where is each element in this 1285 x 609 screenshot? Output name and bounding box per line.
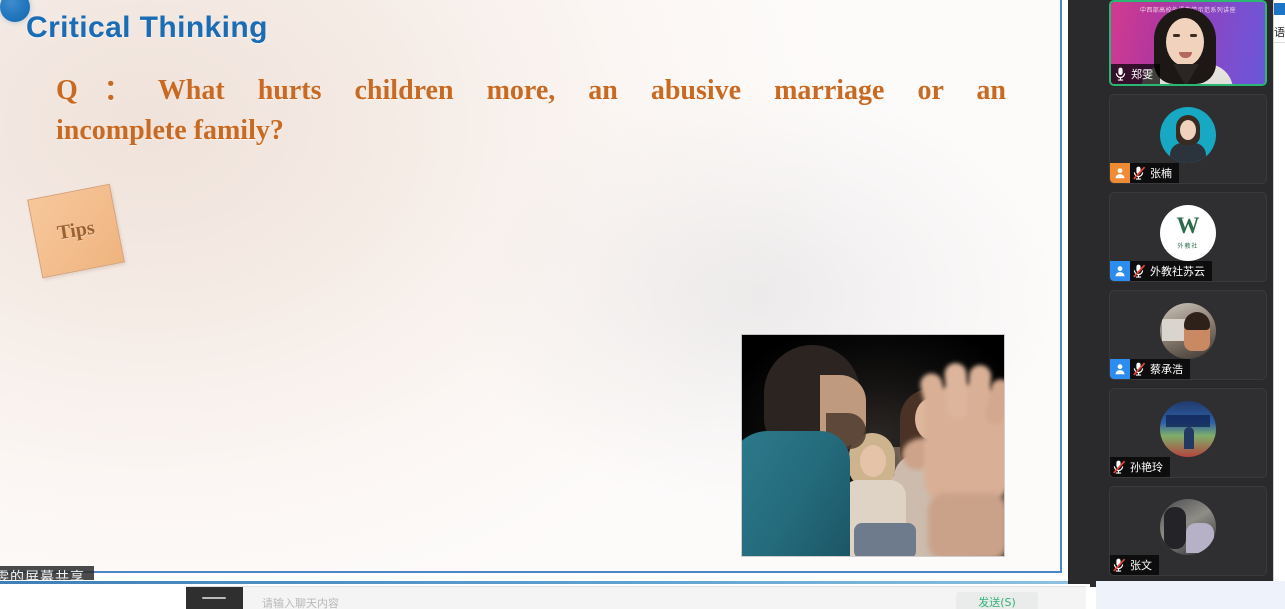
avatar <box>1160 401 1216 457</box>
avatar: W 外教社 <box>1160 205 1216 261</box>
participant-name: 外教社苏云 <box>1149 263 1205 279</box>
participant-tile[interactable]: 孙艳玲 <box>1109 388 1267 478</box>
microphone-muted-icon <box>1110 457 1129 477</box>
screen-share-stage: Critical Thinking Q：What hurts children … <box>0 0 1070 580</box>
participant-name-bar: 张楠 <box>1110 163 1179 183</box>
avatar <box>1160 107 1216 163</box>
participant-name: 张文 <box>1129 557 1152 573</box>
avatar-badge-icon <box>1110 359 1130 379</box>
presentation-slide: Critical Thinking Q：What hurts children … <box>0 0 1060 571</box>
share-border-accent <box>0 581 1070 584</box>
screen-share-label: 雯的屏幕共享 <box>0 566 94 580</box>
slide-photo-domestic-conflict <box>742 335 1004 556</box>
slide-question-block: Q：What hurts children more, an abusive m… <box>56 71 1006 151</box>
microphone-on-icon <box>1111 64 1130 84</box>
zoom-participants-panel: 中西部高校外语教学示范系列讲座 郑雯 <box>1068 0 1273 581</box>
participant-name: 郑雯 <box>1130 66 1153 82</box>
participant-name: 张楠 <box>1149 165 1172 181</box>
avatar-logo-subtitle: 外教社 <box>1160 241 1216 250</box>
participant-name: 孙艳玲 <box>1129 459 1163 475</box>
participant-name: 蔡承浩 <box>1149 361 1183 377</box>
participant-name-bar: 孙艳玲 <box>1110 457 1170 477</box>
avatar-badge-icon <box>1110 261 1130 281</box>
microphone-muted-icon <box>1130 261 1149 281</box>
chat-input-placeholder[interactable]: 请输入聊天内容 <box>262 595 339 609</box>
taskbar-right-area[interactable] <box>1096 581 1285 609</box>
background-window-titlebar <box>1274 3 1285 15</box>
participant-name-bar: 郑雯 <box>1111 64 1160 84</box>
microphone-muted-icon <box>1130 163 1149 183</box>
divider <box>1274 42 1285 43</box>
minimize-icon <box>202 597 226 599</box>
participant-tile[interactable]: 张楠 <box>1109 94 1267 184</box>
slide-title: Critical Thinking <box>26 11 268 45</box>
avatar <box>1160 499 1216 555</box>
tips-badge: Tips <box>27 184 125 279</box>
avatar-badge-icon <box>1110 163 1130 183</box>
send-button[interactable]: 发送(S) <box>956 592 1038 609</box>
chat-toolbar-button[interactable] <box>186 587 243 609</box>
participant-tile[interactable]: 蔡承浩 <box>1109 290 1267 380</box>
avatar-logo-letter: W <box>1160 214 1216 237</box>
send-button-label: 发送(S) <box>978 594 1016 609</box>
participant-tile[interactable]: 张文 <box>1109 486 1267 576</box>
avatar <box>1160 303 1216 359</box>
participant-name-bar: 蔡承浩 <box>1110 359 1190 379</box>
background-window-sliver[interactable]: 语 <box>1273 0 1285 581</box>
participant-name-bar: 张文 <box>1110 555 1159 575</box>
tips-badge-label: Tips <box>34 213 119 249</box>
participant-tile-active-speaker[interactable]: 中西部高校外语教学示范系列讲座 郑雯 <box>1109 0 1267 86</box>
chat-window-sliver[interactable]: 请输入聊天内容 发送(S) <box>186 586 1086 609</box>
microphone-muted-icon <box>1130 359 1149 379</box>
bottom-strip: 请输入聊天内容 发送(S) <box>0 581 1285 609</box>
participant-filmstrip[interactable]: 中西部高校外语教学示范系列讲座 郑雯 <box>1068 0 1273 581</box>
slide-question-line-1: Q：What hurts children more, an abusive m… <box>56 71 1006 111</box>
slide-question-line-2: incomplete family? <box>56 111 1006 151</box>
participant-name-bar: 外教社苏云 <box>1110 261 1212 281</box>
background-window-text: 语 <box>1274 24 1285 40</box>
participant-tile[interactable]: W 外教社 外教社苏云 <box>1109 192 1267 282</box>
microphone-muted-icon <box>1110 555 1129 575</box>
shared-slide-frame: Critical Thinking Q：What hurts children … <box>0 0 1062 573</box>
